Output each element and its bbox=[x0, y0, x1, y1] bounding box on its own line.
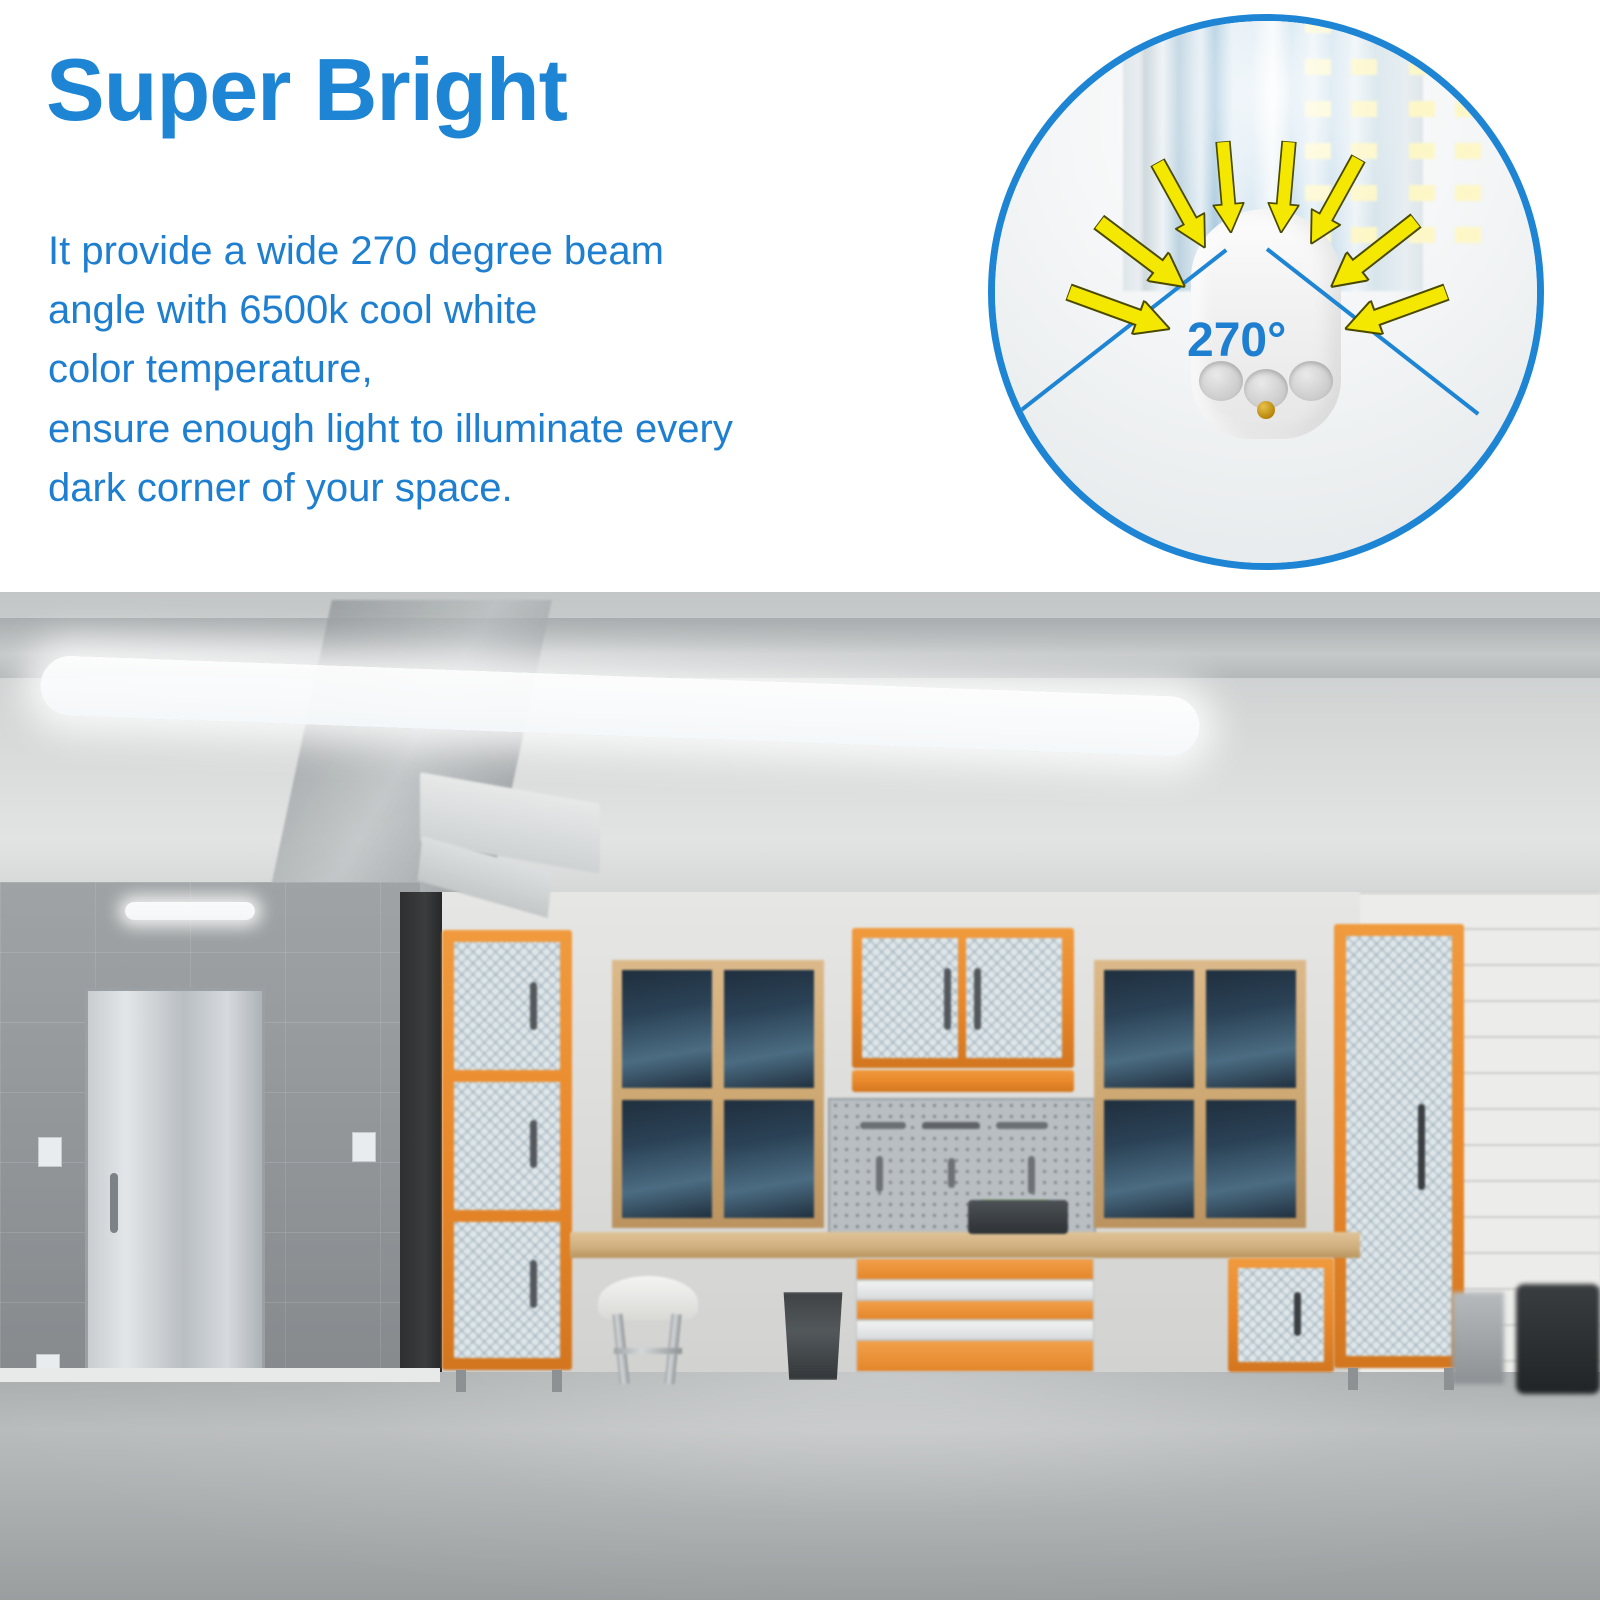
cabinet-handle bbox=[1294, 1292, 1301, 1336]
drawer-row bbox=[856, 1280, 1094, 1300]
dark-column bbox=[400, 892, 442, 1404]
description-line-3: color temperature, bbox=[48, 340, 988, 399]
cabinet-foot bbox=[1348, 1368, 1358, 1390]
tall-cabinet-right bbox=[1334, 924, 1464, 1368]
top-info-panel: Super Bright It provide a wide 270 degre… bbox=[0, 0, 1600, 592]
window-pane bbox=[1206, 1100, 1296, 1218]
cabinet-foot bbox=[456, 1370, 466, 1392]
window-pane bbox=[622, 970, 712, 1088]
stool-footrest bbox=[614, 1348, 682, 1354]
beam-angle-callout: 270° bbox=[988, 14, 1544, 570]
cabinet-mesh-panel bbox=[454, 942, 560, 1070]
tool-hook bbox=[922, 1122, 980, 1129]
drawer-row bbox=[856, 1320, 1094, 1340]
tool-hook bbox=[996, 1122, 1048, 1129]
counter-tool bbox=[968, 1200, 1068, 1234]
housing-hole-icon bbox=[1289, 361, 1333, 401]
tool-hook bbox=[860, 1122, 906, 1129]
stool-seat bbox=[598, 1276, 698, 1320]
screw-icon bbox=[1257, 401, 1275, 419]
low-cabinet-right bbox=[1228, 1258, 1334, 1372]
tool-hook bbox=[948, 1158, 955, 1188]
cabinet-trim bbox=[852, 1070, 1074, 1092]
window-pane bbox=[1104, 970, 1194, 1088]
tool-hook bbox=[876, 1156, 883, 1192]
description-text: It provide a wide 270 degree beam angle … bbox=[48, 222, 988, 518]
drawer-row bbox=[856, 1300, 1094, 1320]
window-pane bbox=[622, 1100, 712, 1218]
trash-bin bbox=[778, 1292, 848, 1380]
tall-cabinet-left bbox=[442, 930, 572, 1370]
baseboard bbox=[0, 1368, 440, 1382]
dark-container bbox=[1516, 1284, 1600, 1394]
description-line-4: ensure enough light to illuminate every bbox=[48, 400, 988, 459]
window-pane bbox=[1104, 1100, 1194, 1218]
page-root: Super Bright It provide a wide 270 degre… bbox=[0, 0, 1600, 1600]
secondary-ceiling-light bbox=[125, 902, 255, 920]
upper-cabinet-center bbox=[852, 928, 1074, 1068]
floor-reflection bbox=[0, 1372, 1600, 1600]
window-pane bbox=[1206, 970, 1296, 1088]
cabinet-handle bbox=[1418, 1104, 1425, 1190]
tool-drawer-chest bbox=[856, 1258, 1094, 1372]
window-right-frame bbox=[1094, 960, 1306, 1228]
window-left-frame bbox=[612, 960, 824, 1228]
cabinet-handle bbox=[974, 968, 981, 1030]
page-title: Super Bright bbox=[46, 44, 567, 136]
cabinet-handle bbox=[530, 982, 537, 1030]
angle-label: 270° bbox=[1187, 313, 1286, 368]
drawer-row bbox=[856, 1258, 1094, 1280]
grille-object bbox=[1452, 1292, 1504, 1384]
cabinet-handle bbox=[944, 968, 951, 1030]
cabinet-mesh-panel bbox=[1346, 936, 1452, 1356]
window-pane bbox=[724, 970, 814, 1088]
window-pane bbox=[724, 1100, 814, 1218]
led-strip-icon bbox=[1455, 14, 1481, 261]
description-line-2: angle with 6500k cool white bbox=[48, 281, 988, 340]
wall-switch bbox=[352, 1132, 376, 1162]
cabinet-mesh-panel bbox=[1238, 1268, 1324, 1362]
wall-switch bbox=[38, 1137, 62, 1167]
workbench-counter bbox=[570, 1232, 1360, 1258]
cabinet-mesh-panel bbox=[454, 1222, 560, 1358]
steel-door bbox=[85, 988, 265, 1404]
callout-background: 270° bbox=[995, 21, 1537, 563]
cabinet-handle bbox=[530, 1120, 537, 1168]
description-line-1: It provide a wide 270 degree beam bbox=[48, 222, 988, 281]
drawer-row bbox=[856, 1340, 1094, 1372]
tool-hook bbox=[1028, 1156, 1035, 1194]
garage-photo bbox=[0, 592, 1600, 1600]
cabinet-handle bbox=[530, 1260, 537, 1308]
cabinet-mesh-panel bbox=[454, 1082, 560, 1210]
description-line-5: dark corner of your space. bbox=[48, 459, 988, 518]
door-handle bbox=[110, 1173, 118, 1233]
cabinet-foot bbox=[552, 1370, 562, 1392]
